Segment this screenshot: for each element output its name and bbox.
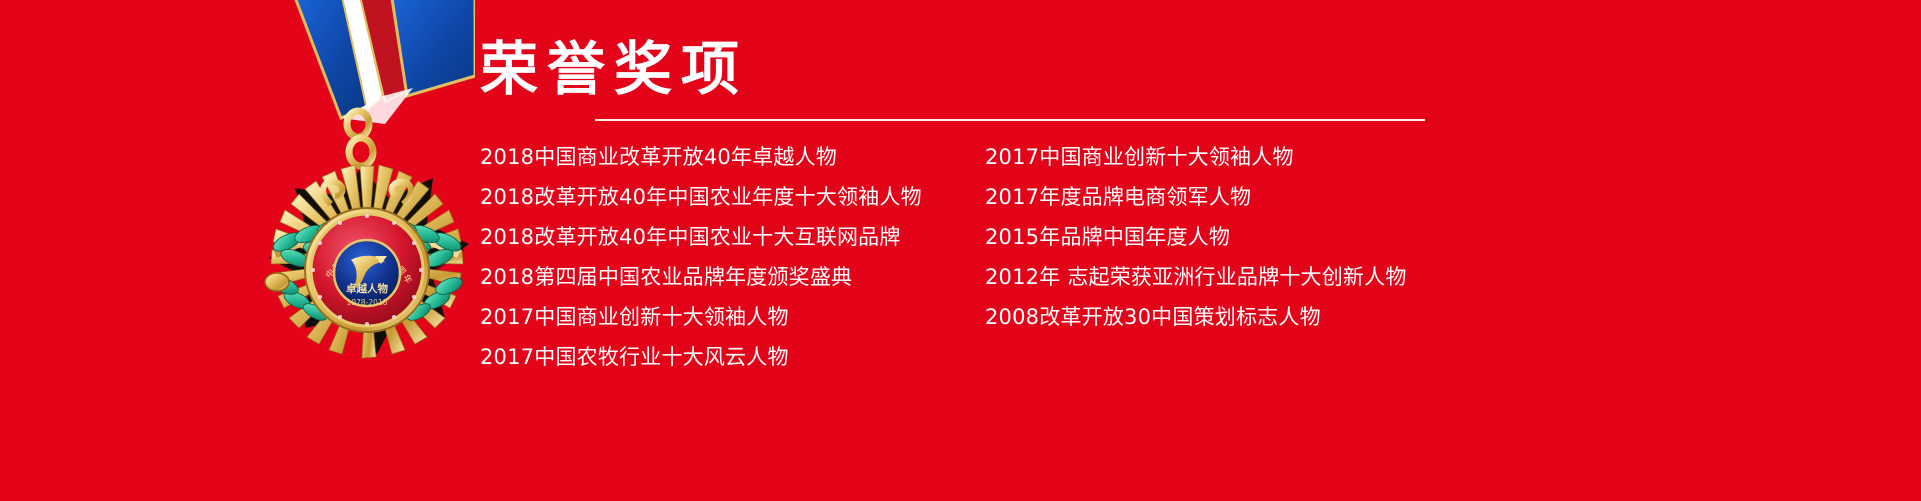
- list-item: 2018第四届中国农业品牌年度颁奖盛典: [480, 257, 985, 297]
- honor-awards-banner: 中国改革开放四十周年卓越人物 卓越人物 1978-2018 荣誉奖项 2018中…: [0, 0, 1921, 501]
- awards-list: 2018中国商业改革开放40年卓越人物 2018改革开放40年中国农业年度十大领…: [480, 137, 1440, 377]
- medal-sunburst: [271, 165, 463, 358]
- medal-pin-nub: [265, 273, 289, 291]
- list-item: 2017中国商业创新十大领袖人物: [480, 297, 985, 337]
- medal-center: 中国改革开放四十周年卓越人物 卓越人物 1978-2018: [145, 0, 429, 332]
- medal-center-title: 卓越人物: [346, 282, 388, 295]
- medal-arc-text: 中国改革开放四十周年卓越人物: [145, 0, 415, 286]
- list-item: 2017中国商业创新十大领袖人物: [985, 137, 1440, 177]
- awards-right-column: 2017中国商业创新十大领袖人物 2017年度品牌电商领军人物 2015年品牌中…: [985, 137, 1440, 377]
- title-divider: [595, 119, 1425, 121]
- medal-laurel-left: [269, 217, 357, 323]
- medal-laurel-right: [377, 217, 465, 323]
- banner-content: 荣誉奖项 2018中国商业改革开放40年卓越人物 2018改革开放40年中国农业…: [480, 38, 1440, 377]
- awards-left-column: 2018中国商业改革开放40年卓越人物 2018改革开放40年中国农业年度十大领…: [480, 137, 985, 377]
- list-item: 2017年度品牌电商领军人物: [985, 177, 1440, 217]
- medal-scroll: [323, 182, 411, 204]
- list-item: 2012年 志起荣获亚洲行业品牌十大创新人物: [985, 257, 1440, 297]
- medal-backing-2: [275, 178, 465, 348]
- medal-ribbon: [293, 0, 475, 124]
- medal-center-year: 1978-2018: [347, 298, 388, 307]
- page-title: 荣誉奖项: [480, 38, 1440, 101]
- list-item: 2017中国农牧行业十大风云人物: [480, 337, 985, 377]
- honor-medal-graphic: 中国改革开放四十周年卓越人物 卓越人物 1978-2018: [145, 0, 475, 402]
- medal-loop: [347, 111, 373, 166]
- list-item: 2018改革开放40年中国农业年度十大领袖人物: [480, 177, 985, 217]
- list-item: 2008改革开放30中国策划标志人物: [985, 297, 1440, 337]
- list-item: 2015年品牌中国年度人物: [985, 217, 1440, 257]
- list-item: 2018中国商业改革开放40年卓越人物: [480, 137, 985, 177]
- list-item: 2018改革开放40年中国农业十大互联网品牌: [480, 217, 985, 257]
- svg-text:中国改革开放四十周年卓越人物: 中国改革开放四十周年卓越人物: [145, 0, 415, 286]
- medal-backing: [269, 168, 469, 354]
